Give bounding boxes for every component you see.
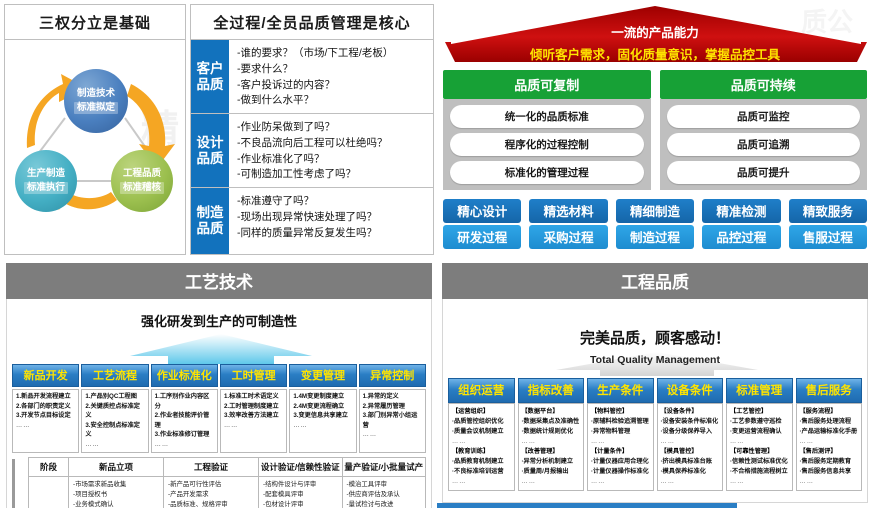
slide-grid: 三权分立是基础 精 制造技术 标准拟定 生产制造 标准执行 <box>0 0 873 508</box>
process-bottom: 售服过程 <box>789 225 867 249</box>
group-title: 【可靠性管理】 <box>730 447 790 457</box>
process-technology-body: 强化研发到生产的可制造性 新品开发 工艺流程 作业标准化 工时管理 <box>6 299 432 508</box>
process-design: 精心设计 研发过程 <box>443 199 521 249</box>
list-item: -现场出现异常快速处理了吗？ <box>237 210 428 226</box>
capsule-item: 程序化的过程控制 <box>450 133 644 156</box>
group-title: 【教育训练】 <box>452 447 512 457</box>
list-item: 3.作业标准修订管理 <box>155 430 215 440</box>
list-item: ·工艺参数遵守巡检 <box>730 417 790 427</box>
list-item: ·数据采集点及准确性 <box>522 417 582 427</box>
list-item: -做到什么水平？ <box>237 93 428 109</box>
separator: …… <box>730 437 790 447</box>
list-item: ·不良标准培训运营 <box>452 467 512 477</box>
list-item: -项目授权书 <box>73 490 160 500</box>
list-item: -产品开发需求 <box>168 490 255 500</box>
list-item: …… <box>85 440 145 450</box>
process-top: 精选材料 <box>529 199 607 223</box>
list-item: -供应商评估及承认 <box>347 490 423 500</box>
cycle-card: 三权分立是基础 精 制造技术 标准拟定 生产制造 标准执行 <box>4 4 186 255</box>
list-item: 2.作业者技能评价管理 <box>155 411 215 430</box>
q4-col-indicators: 指标改善 【数据平台】 ·数据采集点及准确性 ·数据统计规则优化 …… 【改善管… <box>518 378 585 491</box>
panel-separation-of-powers: 三权分立是基础 精 制造技术 标准拟定 生产制造 标准执行 <box>0 0 437 258</box>
process-bottom: 制造过程 <box>616 225 694 249</box>
list-item: 1.工序别作业内容区分 <box>155 392 215 411</box>
row-items-manufacturing: -标准遵守了吗？ -现场出现异常快速处理了吗？ -同样的质量异常反复发生吗？ <box>229 188 433 254</box>
separator: …… <box>591 477 651 487</box>
node-sublabel: 标准拟定 <box>74 102 118 114</box>
list-item: 3.效率改善方法建立 <box>224 411 284 421</box>
list-item: ·设备分级保养导入 <box>661 427 721 437</box>
col-head-new-product[interactable]: 新品开发 <box>12 364 79 387</box>
group-title: 【数据平台】 <box>522 407 582 417</box>
group-title: 【物料管控】 <box>591 407 651 417</box>
separator: …… <box>522 477 582 487</box>
col-head-work-standardization[interactable]: 作业标准化 <box>151 364 218 387</box>
roof-line-1: 一流的产品能力 <box>443 22 867 41</box>
separator: …… <box>661 477 721 487</box>
list-item: ·品质教育机制建立 <box>452 457 512 467</box>
list-item: ·原辅料检验追溯管理 <box>591 417 651 427</box>
process-columns-header: 新品开发 工艺流程 作业标准化 工时管理 变更管理 异常控制 <box>12 364 426 387</box>
quality-questions-title: 全过程/全员品质管理是核心 <box>191 5 433 40</box>
list-item: ·异常物料管理 <box>591 427 651 437</box>
flow-arrow-icon <box>12 457 28 508</box>
list-item: ·计量仪器操作标准化 <box>591 467 651 477</box>
q4-col-equipment-conditions: 设备条件 【设备条件】 ·设备安装条件标准化 ·设备分级保养导入 …… 【模具管… <box>657 378 724 491</box>
cycle-title: 三权分立是基础 <box>5 5 185 40</box>
node-sublabel: 标准稽核 <box>120 182 164 194</box>
list-item: 1.异常的定义 <box>363 392 423 402</box>
separator: …… <box>730 477 790 487</box>
group-title: 【工艺管控】 <box>730 407 790 417</box>
list-item: -包材设计评审 <box>263 500 339 508</box>
col-head-process-flow[interactable]: 工艺流程 <box>81 364 148 387</box>
list-item: 1.标准工时术语定义 <box>224 392 284 402</box>
row-label-design: 设计品质 <box>191 114 229 187</box>
q4-body-standard-mgmt: 【工艺管控】 ·工艺参数遵守巡检 ·变更运营流程确认 …… 【可靠性管理】 ·信… <box>726 403 793 491</box>
list-item: 1.产品别QC工程图 <box>85 392 145 402</box>
list-item: ·不合格措施流程树立 <box>730 467 790 477</box>
panel-engineering-quality: 工程品质 完美品质，顾客感动！ Total Quality Management <box>437 258 873 508</box>
process-material: 精选材料 采购过程 <box>529 199 607 249</box>
quality-questions-card: 全过程/全员品质管理是核心 客户品质 -谁的要求？（市场/下工程/老板） -要求… <box>190 4 434 255</box>
row-items-customer: -谁的要求？（市场/下工程/老板） -要求什么？ -客户投诉过的内容？ -做到什… <box>229 40 433 113</box>
list-item: -市场需求新品收集 <box>73 480 160 490</box>
list-item: -结构件设计与评审 <box>263 480 339 490</box>
th-design-validation: 设计验证/信赖性验证 <box>259 458 343 476</box>
process-top: 精细制造 <box>616 199 694 223</box>
list-item: -量试检讨与改进 <box>347 500 423 508</box>
list-item: 3.变更信息共享建立 <box>293 411 353 421</box>
process-top: 精心设计 <box>443 199 521 223</box>
col-body-man-hour: 1.标准工时术语定义 2.工时管理制度建立 3.效率改善方法建立 …… <box>220 389 287 453</box>
list-item: 3.安全控制点标准定义 <box>85 421 145 440</box>
list-item: ·信赖性测试标准优化 <box>730 457 790 467</box>
list-item: -业务模式确认 <box>73 500 160 508</box>
list-item: 1.4M变更制度建立 <box>293 392 353 402</box>
q4-col-production-conditions: 生产条件 【物料管控】 ·原辅料检验追溯管理 ·异常物料管理 …… 【计量条件】… <box>587 378 654 491</box>
row-label-customer: 客户品质 <box>191 40 229 113</box>
list-item: -标准遵守了吗？ <box>237 194 428 210</box>
list-item: ·数据统计规则优化 <box>522 427 582 437</box>
list-item: ·质量周/月报输出 <box>522 467 582 477</box>
th-stage: 阶段 <box>29 458 69 476</box>
list-item: -同样的质量异常反复发生吗？ <box>237 226 428 242</box>
q4-head-standard-mgmt[interactable]: 标准管理 <box>726 378 793 403</box>
engineering-quality-subtitle: 完美品质，顾客感动！ <box>448 327 862 348</box>
cycle-diagram: 精 制造技术 标准拟定 生产制造 标准执行 <box>5 40 185 254</box>
q4-body-organization: 【运营组织】 ·品质管控组织优化 ·质量会议机制建立 …… 【教育训练】 ·品质… <box>448 403 515 491</box>
td-mass-production: -模治工具评审 -供应商评估及承认 -量试检讨与改进 -工程能力评估 -标准发行… <box>343 477 426 508</box>
list-item: ·产品运输标准化手册 <box>800 427 860 437</box>
separator: …… <box>800 437 860 447</box>
list-item: -配套模具评审 <box>263 490 339 500</box>
capsule-item: 品质可追溯 <box>667 133 861 156</box>
list-item: ·计量仪器应用合理化 <box>591 457 651 467</box>
group-title: 【模具管控】 <box>661 447 721 457</box>
q4-body-indicators: 【数据平台】 ·数据采集点及准确性 ·数据统计规则优化 …… 【改善管理】 ·异… <box>518 403 585 491</box>
list-item: …… <box>224 421 284 431</box>
group-title: 【改善管理】 <box>522 447 582 457</box>
q4-body-after-sales: 【服务流程】 ·售后服务处理流程 ·产品运输标准化手册 …… 【售后测评】 ·售… <box>796 403 863 491</box>
td-engineering-validation: -新产品可行性评估 -产品开发需求 -品质标准、规格评审 -目标成本利润评估 -… <box>164 477 259 508</box>
list-item: -谁的要求？（市场/下工程/老板） <box>237 46 428 62</box>
node-sublabel: 标准执行 <box>24 182 68 194</box>
col-head-abnormal-control[interactable]: 异常控制 <box>359 364 426 387</box>
separator: …… <box>661 437 721 447</box>
list-item: 3.开发节点目标设定 <box>16 411 76 421</box>
list-item: ·变更运营流程确认 <box>730 427 790 437</box>
cycle-node-manufacturing-tech: 制造技术 标准拟定 <box>64 69 128 133</box>
process-bottom: 研发过程 <box>443 225 521 249</box>
th-new-product-project: 新品立项 <box>69 458 164 476</box>
td-new-product-project: -市场需求新品收集 -项目授权书 -业务模式确认 -成本目标 -质量要求书… <box>69 477 164 508</box>
process-technology-title: 工艺技术 <box>6 263 432 299</box>
roof-text: 一流的产品能力 倾听客户需求，固化质量意识，掌握品控工具 <box>443 22 867 63</box>
process-row: 精心设计 研发过程 精选材料 采购过程 精细制造 制造过程 精准检测 品控过程 … <box>443 199 867 249</box>
node-label: 生产制造 <box>27 168 65 180</box>
list-item: ·售后服务定期教育 <box>800 457 860 467</box>
list-item: 1.新品开发流程建立 <box>16 392 76 402</box>
panel-process-technology: 工艺技术 强化研发到生产的可制造性 新品开发 工艺流程 作业标准化 <box>0 258 437 508</box>
cycle-node-production: 生产制造 标准执行 <box>15 150 77 212</box>
process-top: 精致服务 <box>789 199 867 223</box>
capsule-item: 品质可监控 <box>667 105 861 128</box>
list-item: ·设备安装条件标准化 <box>661 417 721 427</box>
stage-table: 阶段 新品立项 工程验证 设计验证/信赖性验证 量产验证/小批量试产 输出 -市… <box>28 457 426 508</box>
separator: …… <box>522 437 582 447</box>
row-label-manufacturing: 制造品质 <box>191 188 229 254</box>
list-item: 2.4M变更流程确立 <box>293 402 353 412</box>
group-title: 【服务流程】 <box>800 407 860 417</box>
col-body-work-standardization: 1.工序别作业内容区分 2.作业者技能评价管理 3.作业标准修订管理 …… <box>151 389 218 453</box>
list-item: 2.异常履历管理 <box>363 402 423 412</box>
upward-arrow-icon: Total Quality Management <box>448 350 862 376</box>
list-item: -不良品流向后工程可以杜绝吗？ <box>237 136 428 152</box>
list-item: …… <box>155 440 215 450</box>
list-item: -模治工具评审 <box>347 480 423 490</box>
col-head-man-hour[interactable]: 工时管理 <box>220 364 287 387</box>
list-item: ·质量会议机制建立 <box>452 427 512 437</box>
capsule-item: 统一化的品质标准 <box>450 105 644 128</box>
list-item: ·售后服务信息共享 <box>800 467 860 477</box>
node-label: 工程品质 <box>123 168 161 180</box>
group-title: 【售后测评】 <box>800 447 860 457</box>
panel-product-capability: 质公 一流的产品能力 倾听客户需求，固化质量意识，掌握品控工具 品质可复制 <box>437 0 873 258</box>
list-item: …… <box>363 430 423 440</box>
stage-table-body: 输出 -市场需求新品收集 -项目授权书 -业务模式确认 -成本目标 -质量要求书… <box>29 477 425 508</box>
list-item: -作业防呆做到了吗？ <box>237 120 428 136</box>
q4-col-organization: 组织运营 【运营组织】 ·品质管控组织优化 ·质量会议机制建立 …… 【教育训练… <box>448 378 515 491</box>
quality-row-design: 设计品质 -作业防呆做到了吗？ -不良品流向后工程可以杜绝吗？ -作业标准化了吗… <box>191 114 433 188</box>
engineering-quality-title: 工程品质 <box>442 263 868 299</box>
th-mass-production: 量产验证/小批量试产 <box>343 458 426 476</box>
footer-accent-bar <box>437 503 737 508</box>
q4-head-indicators[interactable]: 指标改善 <box>518 378 585 403</box>
list-item: -作业标准化了吗？ <box>237 152 428 168</box>
list-item: ·售后服务处理流程 <box>800 417 860 427</box>
engineering-quality-subtitle-en: Total Quality Management <box>448 354 862 366</box>
q4-head-equipment-conditions[interactable]: 设备条件 <box>657 378 724 403</box>
col-head-change-mgmt[interactable]: 变更管理 <box>289 364 356 387</box>
th-engineering-validation: 工程验证 <box>164 458 259 476</box>
process-service: 精致服务 售服过程 <box>789 199 867 249</box>
upward-arrow-icon <box>12 330 426 364</box>
list-item: ·模具保养标准化 <box>661 467 721 477</box>
list-item: -要求什么？ <box>237 62 428 78</box>
list-item: 2.工时管理制度建立 <box>224 402 284 412</box>
col-body-process-flow: 1.产品别QC工程图 2.关键质控点标准定义 3.安全控制点标准定义 …… <box>81 389 148 453</box>
quality-columns: 组织运营 【运营组织】 ·品质管控组织优化 ·质量会议机制建立 …… 【教育训练… <box>448 378 862 491</box>
roof-banner: 一流的产品能力 倾听客户需求，固化质量意识，掌握品控工具 <box>443 4 867 66</box>
td-design-validation: -结构件设计与评审 -配套模具评审 -包材设计评审 -初样制作 -信赖性测试报告 <box>259 477 343 508</box>
process-columns-body: 1.新品开发流程建立 2.各部门的职责定义 3.开发节点目标设定 …… 1.产品… <box>12 389 426 453</box>
group-title: 【计量条件】 <box>591 447 651 457</box>
process-inspection: 精准检测 品控过程 <box>702 199 780 249</box>
stage-table-header: 阶段 新品立项 工程验证 设计验证/信赖性验证 量产验证/小批量试产 <box>29 458 425 477</box>
list-item: ·品质管控组织优化 <box>452 417 512 427</box>
list-item: -可制造加工性考虑了吗？ <box>237 167 428 183</box>
col-body-change-mgmt: 1.4M变更制度建立 2.4M变更流程确立 3.变更信息共享建立 …… <box>289 389 356 453</box>
group-title: 【设备条件】 <box>661 407 721 417</box>
quality-questions-rows: 客户品质 -谁的要求？（市场/下工程/老板） -要求什么？ -客户投诉过的内容？… <box>191 40 433 254</box>
cycle-node-engineering-quality: 工程品质 标准稽核 <box>111 150 173 212</box>
pillar-body: 统一化的品质标准 程序化的过程控制 标准化的管理过程 <box>443 99 651 190</box>
list-item: ·挤出模具标准台账 <box>661 457 721 467</box>
separator: …… <box>800 477 860 487</box>
pillar-replicable: 品质可复制 统一化的品质标准 程序化的过程控制 标准化的管理过程 <box>443 70 651 190</box>
list-item: ·异常分析机制建立 <box>522 457 582 467</box>
list-item: -客户投诉过的内容？ <box>237 78 428 94</box>
td-row-label: 输出 <box>29 477 69 508</box>
q4-body-equipment-conditions: 【设备条件】 ·设备安装条件标准化 ·设备分级保养导入 …… 【模具管控】 ·挤… <box>657 403 724 491</box>
list-item: 3.部门别异常小组运营 <box>363 411 423 430</box>
q4-col-after-sales: 售后服务 【服务流程】 ·售后服务处理流程 ·产品运输标准化手册 …… 【售后测… <box>796 378 863 491</box>
q4-col-standard-mgmt: 标准管理 【工艺管控】 ·工艺参数遵守巡检 ·变更运营流程确认 …… 【可靠性管… <box>726 378 793 491</box>
list-item: …… <box>16 421 76 431</box>
quality-row-customer: 客户品质 -谁的要求？（市场/下工程/老板） -要求什么？ -客户投诉过的内容？… <box>191 40 433 114</box>
capsule-item: 品质可提升 <box>667 161 861 184</box>
process-top: 精准检测 <box>702 199 780 223</box>
engineering-quality-body: 完美品质，顾客感动！ Total Quality Management 组织运营 <box>442 299 868 503</box>
pillar-body: 品质可监控 品质可追溯 品质可提升 <box>660 99 868 190</box>
node-label: 制造技术 <box>77 88 115 100</box>
separator: …… <box>452 437 512 447</box>
list-item: 2.各部门的职责定义 <box>16 402 76 412</box>
roof-line-2: 倾听客户需求，固化质量意识，掌握品控工具 <box>443 44 867 63</box>
list-item: …… <box>293 421 353 431</box>
row-items-design: -作业防呆做到了吗？ -不良品流向后工程可以杜绝吗？ -作业标准化了吗？ -可制… <box>229 114 433 187</box>
pillar-head: 品质可持续 <box>660 70 868 99</box>
process-bottom: 品控过程 <box>702 225 780 249</box>
pillars-row: 品质可复制 统一化的品质标准 程序化的过程控制 标准化的管理过程 品质可持续 品… <box>443 70 867 190</box>
process-bottom: 采购过程 <box>529 225 607 249</box>
separator: …… <box>591 437 651 447</box>
col-body-new-product: 1.新品开发流程建立 2.各部门的职责定义 3.开发节点目标设定 …… <box>12 389 79 453</box>
capsule-item: 标准化的管理过程 <box>450 161 644 184</box>
pillar-head: 品质可复制 <box>443 70 651 99</box>
list-item: 2.关键质控点标准定义 <box>85 402 145 421</box>
q4-head-organization[interactable]: 组织运营 <box>448 378 515 403</box>
stage-output-table: 阶段 新品立项 工程验证 设计验证/信赖性验证 量产验证/小批量试产 输出 -市… <box>12 457 426 508</box>
q4-head-after-sales[interactable]: 售后服务 <box>796 378 863 403</box>
separator: …… <box>452 477 512 487</box>
process-manufacture: 精细制造 制造过程 <box>616 199 694 249</box>
q4-body-production-conditions: 【物料管控】 ·原辅料检验追溯管理 ·异常物料管理 …… 【计量条件】 ·计量仪… <box>587 403 654 491</box>
process-technology-subtitle: 强化研发到生产的可制造性 <box>12 311 426 330</box>
list-item: -新产品可行性评估 <box>168 480 255 490</box>
quality-row-manufacturing: 制造品质 -标准遵守了吗？ -现场出现异常快速处理了吗？ -同样的质量异常反复发… <box>191 188 433 254</box>
group-title: 【运营组织】 <box>452 407 512 417</box>
col-body-abnormal-control: 1.异常的定义 2.异常履历管理 3.部门别异常小组运营 …… <box>359 389 426 453</box>
q4-head-production-conditions[interactable]: 生产条件 <box>587 378 654 403</box>
list-item: -品质标准、规格评审 <box>168 500 255 508</box>
pillar-sustainable: 品质可持续 品质可监控 品质可追溯 品质可提升 <box>660 70 868 190</box>
